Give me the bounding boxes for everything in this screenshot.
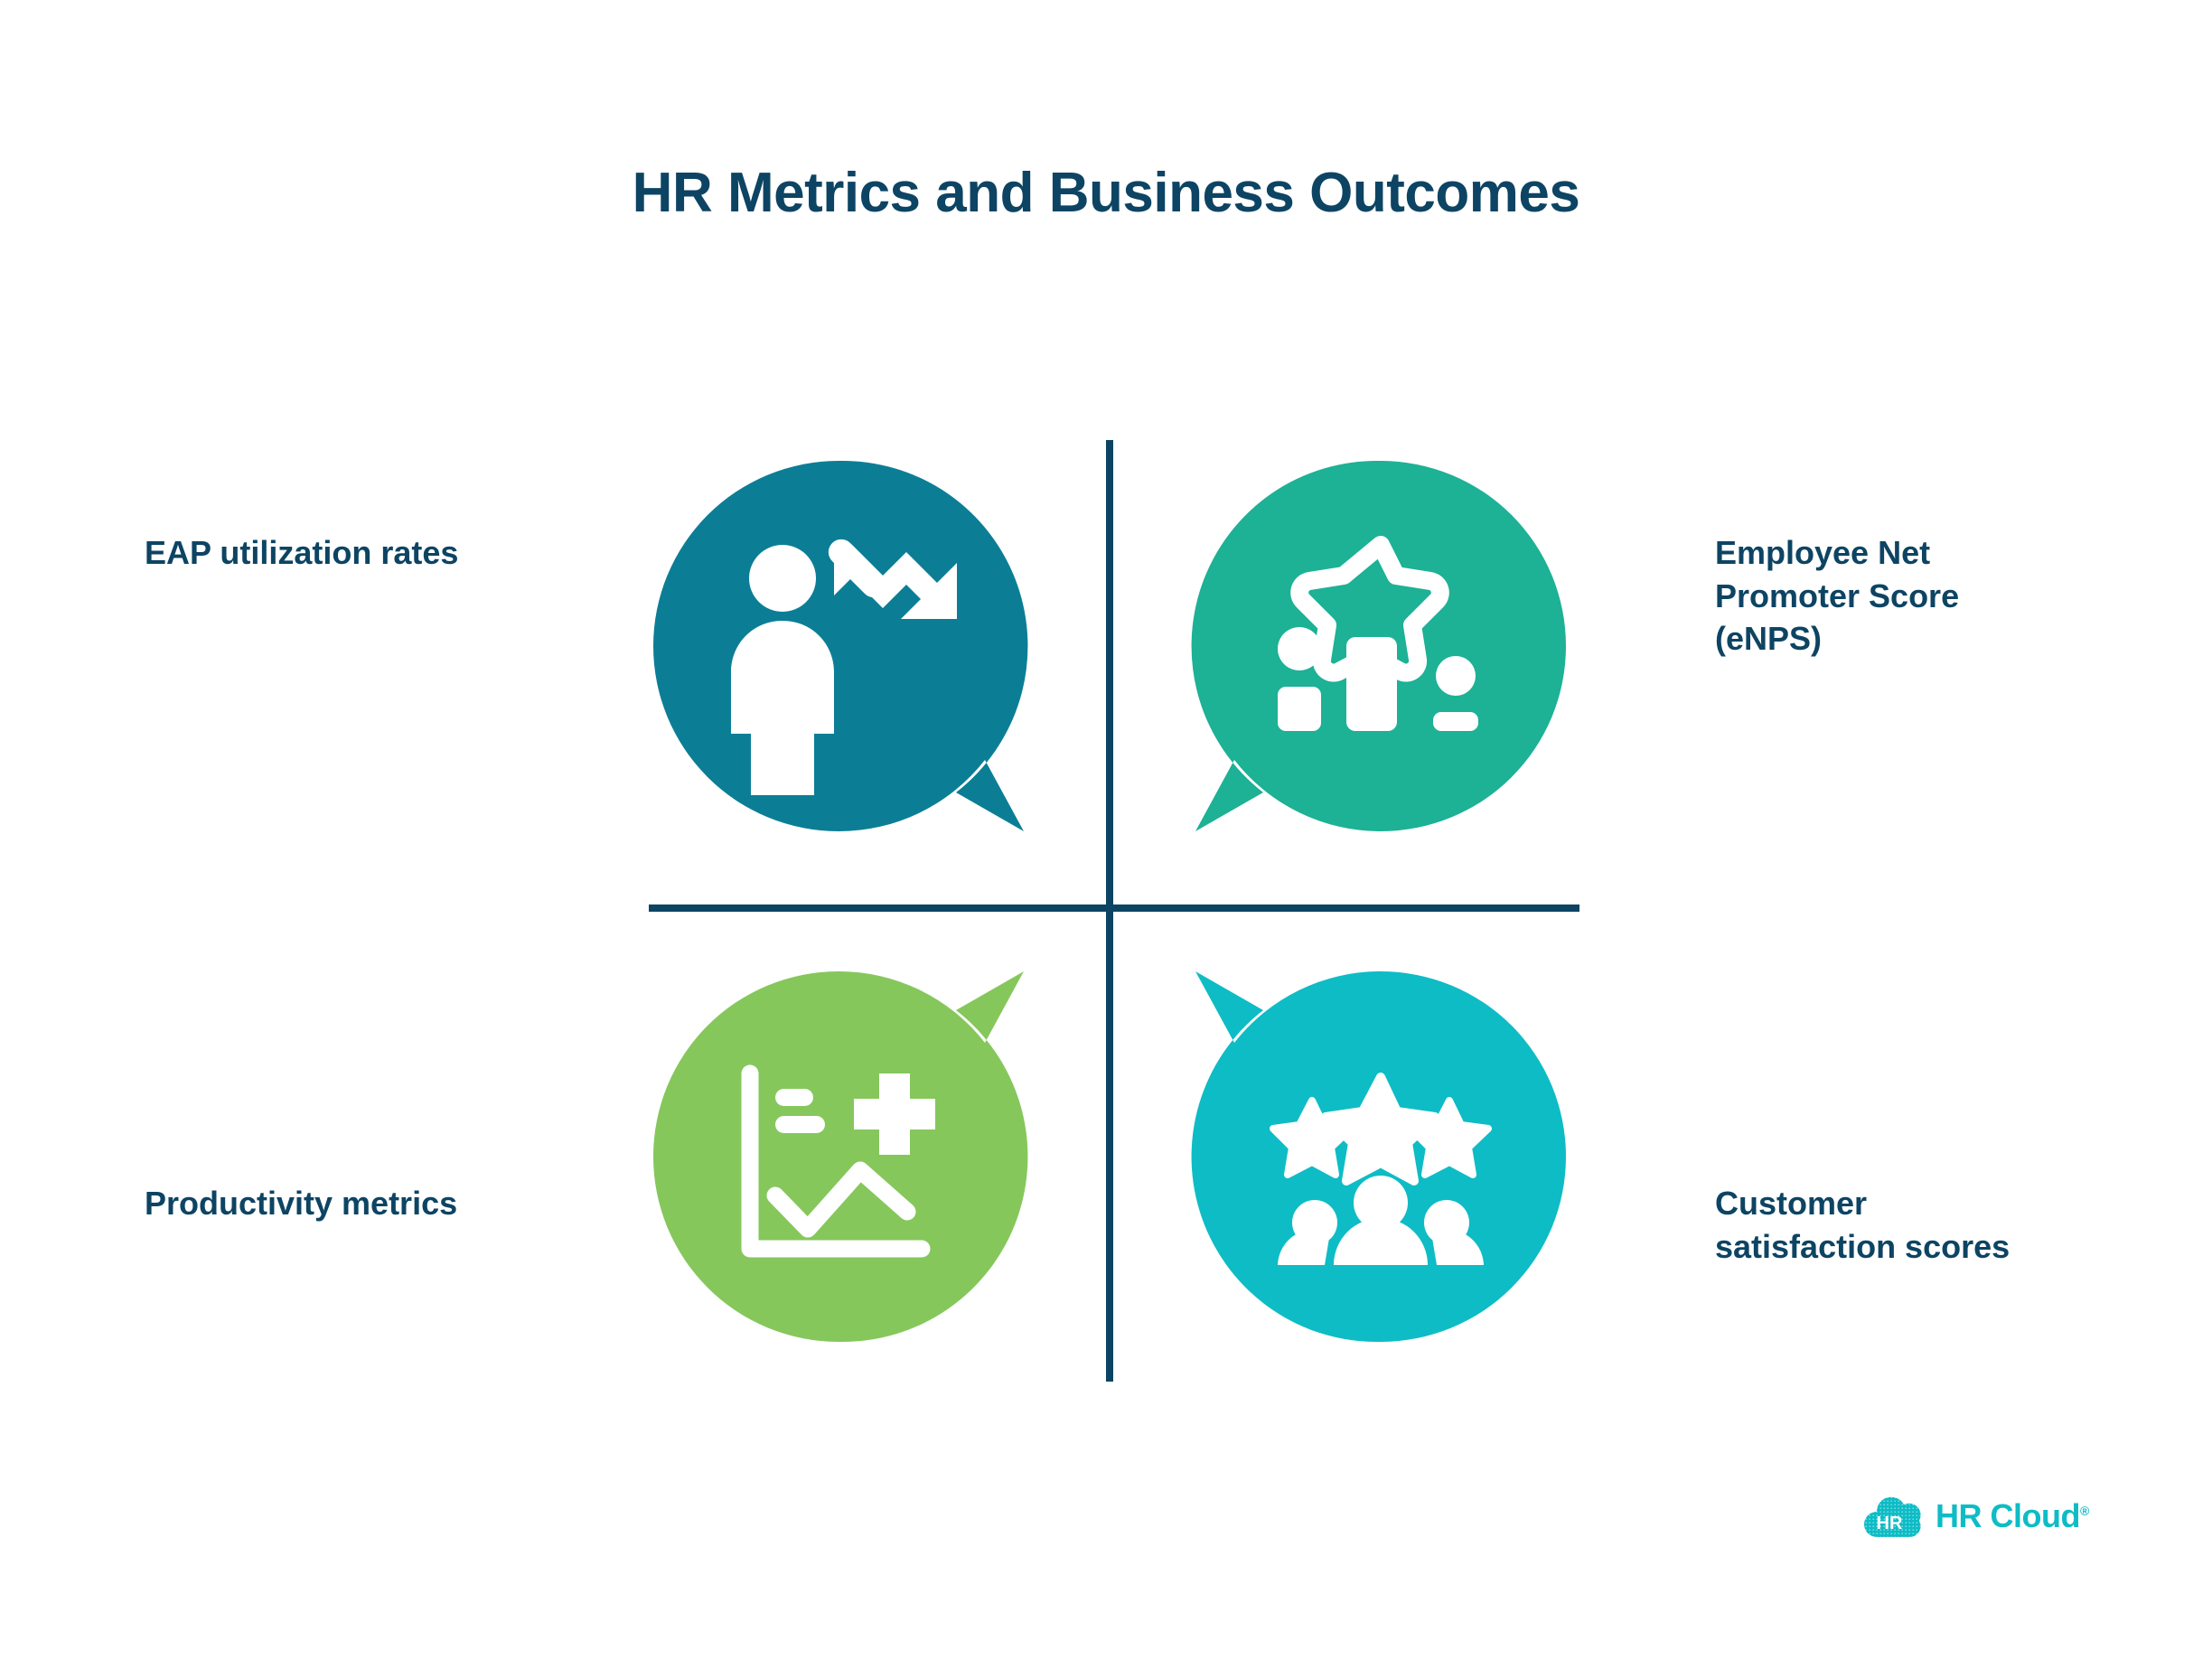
infographic-canvas: HR Metrics and Business Outcomes [0,0,2212,1659]
quadrant-label-csat-line-1: Customer [1715,1182,2131,1225]
page-title: HR Metrics and Business Outcomes [0,163,2212,224]
quadrant-bubble-eap[interactable] [649,456,1028,836]
brand-name: HR Cloud [1935,1497,2080,1534]
quadrant-label-eap-line-1: EAP utilization rates [145,531,614,575]
quadrant-label-enps-line-3: (eNPS) [1715,617,2131,661]
quadrant-bubble-productivity[interactable] [649,967,1028,1346]
quadrant-label-enps-line-2: Promoter Score [1715,575,2131,618]
quadrant-label-csat-line-2: satisfaction scores [1715,1225,2131,1269]
quadrant-label-productivity-line-1: Productivity metrics [145,1182,614,1225]
quadrant-bubble-enps[interactable] [1191,456,1570,836]
quadrant-divider-horizontal [649,904,1579,912]
quadrant-label-eap: EAP utilization rates [145,531,614,575]
hr-cloud-logo-icon: HR [1861,1493,1923,1540]
quadrant-label-csat: Customer satisfaction scores [1715,1182,2131,1268]
quadrant-label-productivity: Productivity metrics [145,1182,614,1225]
svg-text:HR: HR [1877,1514,1903,1533]
quadrant-bubble-csat[interactable] [1191,967,1570,1346]
quadrant-label-enps: Employee Net Promoter Score (eNPS) [1715,531,2131,661]
brand-logo[interactable]: HR HR Cloud® [1861,1489,2089,1543]
brand-logo-text: HR Cloud® [1935,1497,2089,1535]
quadrant-label-enps-line-1: Employee Net [1715,531,2131,575]
brand-trademark: ® [2080,1504,2089,1518]
